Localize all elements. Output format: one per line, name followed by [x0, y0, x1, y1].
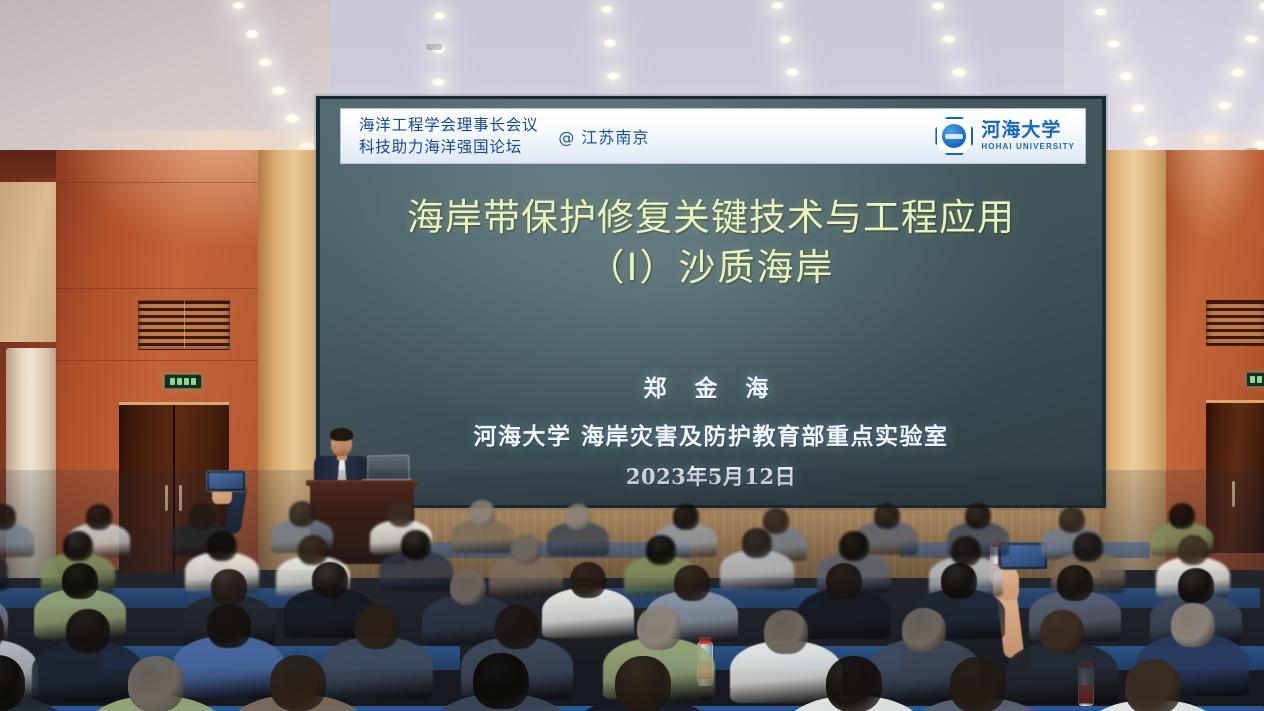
smartphone-icon: [206, 470, 246, 492]
audience-member-head: [826, 656, 882, 711]
audience-member-head: [763, 508, 789, 534]
audience-member-head: [62, 563, 98, 599]
slide-header-banner: 海洋工程学会理事长会议 科技助力海洋强国论坛 @ 江苏南京 河海大学 HOHAI…: [340, 108, 1086, 164]
audience-member-head: [615, 656, 671, 711]
ceiling-downlight: [1142, 136, 1160, 147]
audience-member-head: [941, 563, 977, 599]
ceiling-downlight: [232, 2, 245, 10]
ceiling-downlight: [1258, 2, 1264, 11]
audience-member-head: [86, 504, 112, 530]
ceiling-downlight: [1230, 68, 1246, 78]
audience-member-head: [298, 535, 328, 565]
audience-member-head: [355, 605, 399, 649]
slide-speaker-name: 郑 金 海: [320, 369, 1102, 403]
ceiling-downlight: [600, 6, 613, 14]
logo-name-en: HOHAI UNIVERSITY: [981, 143, 1075, 151]
conference-hall-scene: 海洋工程学会理事长会议 科技助力海洋强国论坛 @ 江苏南京 河海大学 HOHAI…: [0, 0, 1264, 711]
hvac-grille-right: [1206, 300, 1264, 346]
audience-member-head: [289, 501, 315, 527]
exit-sign-right: [1246, 372, 1264, 387]
audience-member-head: [450, 569, 486, 605]
audience-member-head: [1169, 503, 1195, 529]
audience-member-head: [495, 605, 539, 649]
audience-member-head: [1059, 507, 1085, 533]
audience-member-head: [673, 504, 699, 530]
audience-member-head: [764, 610, 808, 654]
slide-affiliation: 河海大学 海岸灾害及防护教育部重点实验室: [320, 417, 1102, 451]
presentation-slide: 海洋工程学会理事长会议 科技助力海洋强国论坛 @ 江苏南京 河海大学 HOHAI…: [320, 99, 1102, 505]
audience-member-head: [270, 655, 326, 711]
ceiling-downlight: [778, 35, 792, 44]
ceiling-downlight: [245, 30, 259, 39]
slide-title-subline: （I）沙质海岸: [320, 245, 1102, 291]
audience-member-head: [950, 657, 1006, 711]
audience-member-head: [965, 503, 991, 529]
audience-member-head: [874, 503, 900, 529]
audience-member-head: [388, 501, 414, 527]
audience-member-head: [1040, 610, 1084, 654]
slide-title: 海岸带保护修复关键技术与工程应用: [320, 195, 1102, 241]
banner-location: @ 江苏南京: [558, 124, 649, 148]
audience-member-head: [1178, 535, 1208, 565]
audience-member-head: [211, 569, 247, 605]
audience-member-head: [473, 653, 529, 709]
logo-wordmark: 河海大学 HOHAI UNIVERSITY: [981, 121, 1075, 151]
ceiling-vent-icon: [426, 44, 442, 50]
ceiling-downlight: [931, 2, 945, 11]
audience-member-head: [207, 604, 251, 648]
audience-member-head: [742, 528, 772, 558]
audience-member-head: [1178, 568, 1214, 604]
audience-member-head: [401, 530, 431, 560]
audience-member-head: [1057, 565, 1093, 601]
audience-member-head: [63, 531, 93, 561]
ceiling-downlight: [433, 12, 446, 20]
audience-member-head: [207, 531, 237, 561]
audience-member-head: [565, 504, 591, 530]
exit-sign-left: [164, 374, 202, 389]
ceiling-downlight: [271, 86, 287, 96]
presenter-hair: [330, 428, 353, 441]
logo-name-cn: 河海大学: [981, 121, 1075, 140]
ceiling-downlight: [1094, 8, 1108, 17]
hvac-grille-left: [138, 300, 230, 350]
hohai-octagon-emblem-icon: [935, 117, 973, 155]
audience-member-head: [469, 500, 495, 526]
audience-area: [0, 470, 1264, 711]
audience-member-head: [312, 562, 348, 598]
audience-member-head: [128, 656, 184, 711]
banner-title-block: 海洋工程学会理事长会议 科技助力海洋强国论坛: [341, 115, 538, 157]
ceiling-downlight: [603, 39, 617, 48]
audience-member-head: [570, 562, 606, 598]
audience-member-head: [1125, 659, 1181, 711]
hohai-university-logo: 河海大学 HOHAI UNIVERSITY: [935, 117, 1075, 155]
audience-member-head: [1171, 603, 1215, 647]
audience-member-head: [826, 563, 862, 599]
ceiling-downlight: [1118, 72, 1134, 82]
audience-member-head: [511, 534, 541, 564]
audience-member-head: [674, 565, 710, 601]
audience-member-head: [839, 531, 869, 561]
audience-member-head: [189, 503, 215, 529]
ceiling-downlight: [771, 2, 784, 10]
audience-member-head: [902, 608, 946, 652]
ceiling-downlight: [951, 68, 967, 78]
audience-member-head: [951, 536, 981, 566]
audience-member-head: [637, 606, 681, 650]
audience-member-head: [66, 609, 110, 653]
audience-member-head: [1073, 532, 1103, 562]
banner-line-2: 科技助力海洋强国论坛: [359, 137, 538, 157]
left-wall-beige-band: [0, 182, 58, 342]
banner-line-1: 海洋工程学会理事长会议: [359, 115, 538, 135]
audience-member-head: [646, 535, 676, 565]
